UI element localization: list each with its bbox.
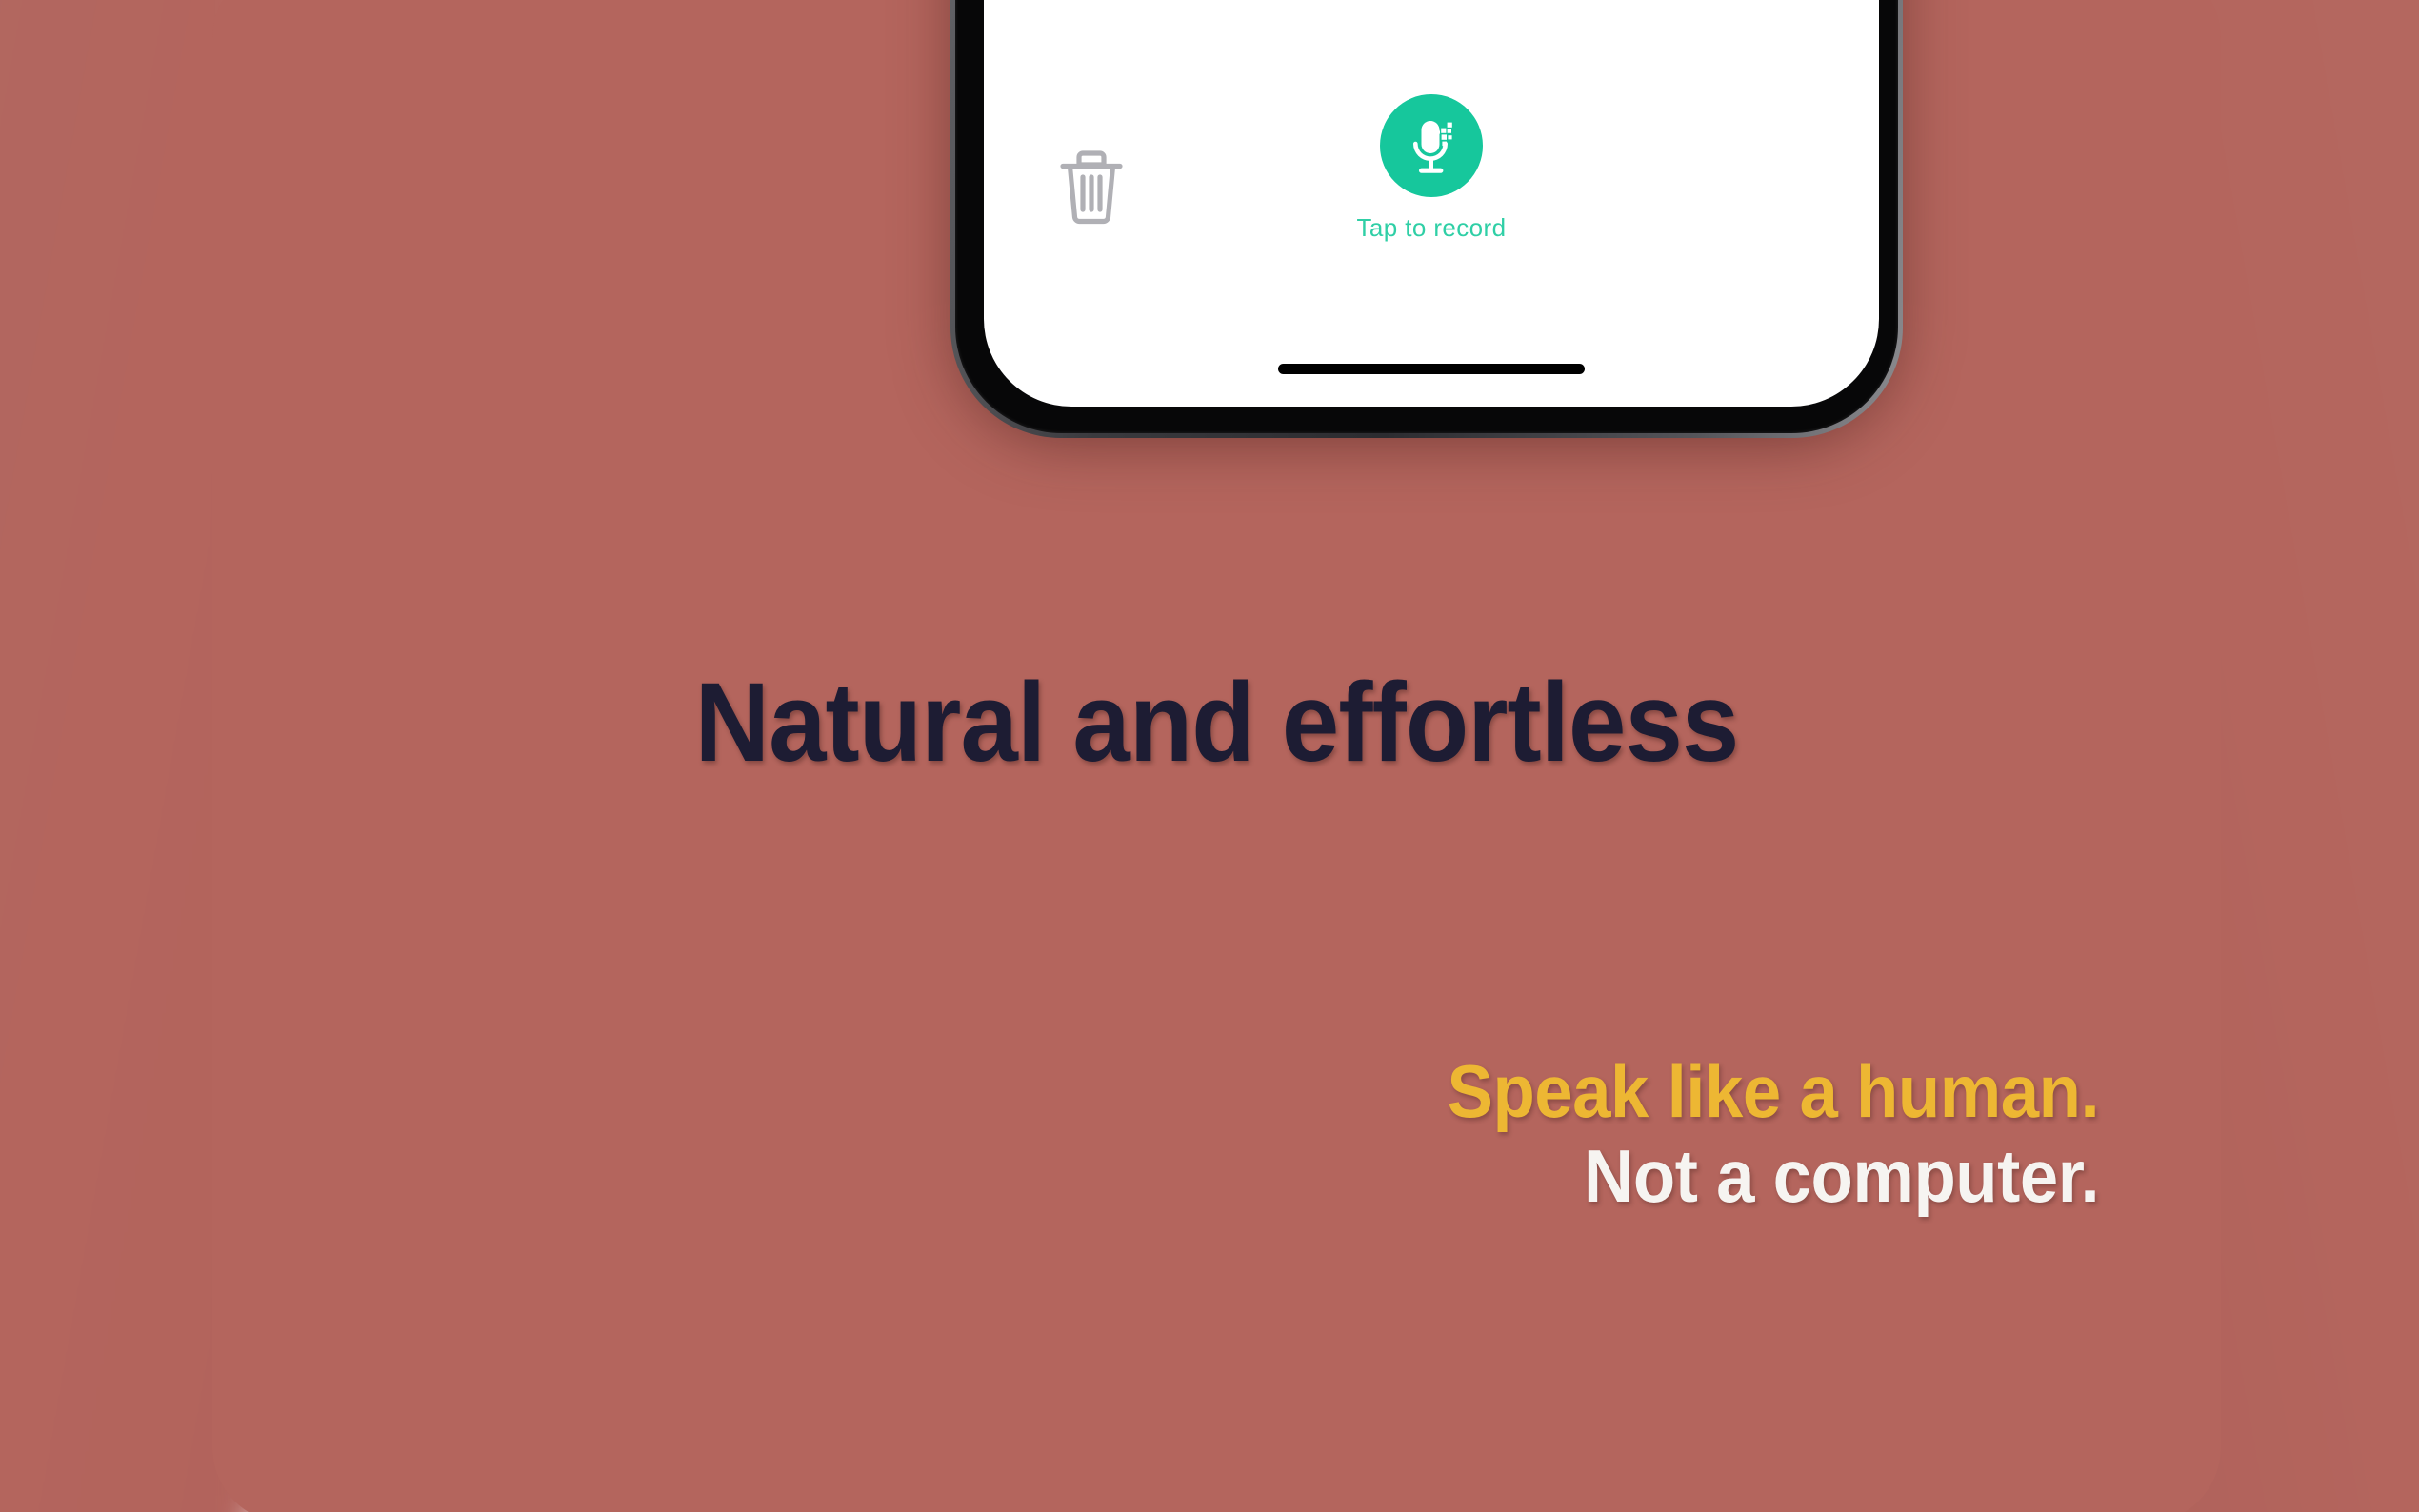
record-button-circle — [1380, 94, 1483, 197]
promo-card: Tap to record Natural and effortless Spe… — [212, 0, 2221, 1512]
phone-mockup: Tap to record — [950, 0, 1903, 438]
phone-screen: Tap to record — [984, 0, 1879, 407]
home-indicator[interactable] — [1278, 364, 1585, 374]
backdrop-left-strip — [0, 0, 248, 1512]
tagline: Speak like a human. Not a computer. — [1447, 1049, 2099, 1219]
record-button[interactable]: Tap to record — [1332, 94, 1530, 243]
promo-screenshot: Tap to record Natural and effortless Spe… — [0, 0, 2419, 1512]
record-control-bar: Tap to record — [984, 94, 1879, 294]
delete-recording-button[interactable] — [1056, 144, 1127, 226]
microphone-icon — [1397, 111, 1466, 180]
tagline-line-2: Not a computer. — [1447, 1134, 2099, 1219]
phone-outer-rim: Tap to record — [950, 0, 1903, 438]
trash-icon — [1056, 144, 1127, 226]
tagline-line-1: Speak like a human. — [1447, 1049, 2099, 1134]
record-button-caption: Tap to record — [1332, 213, 1530, 243]
phone-body: Tap to record — [955, 0, 1898, 433]
page-title: Natural and effortless — [292, 666, 2140, 779]
